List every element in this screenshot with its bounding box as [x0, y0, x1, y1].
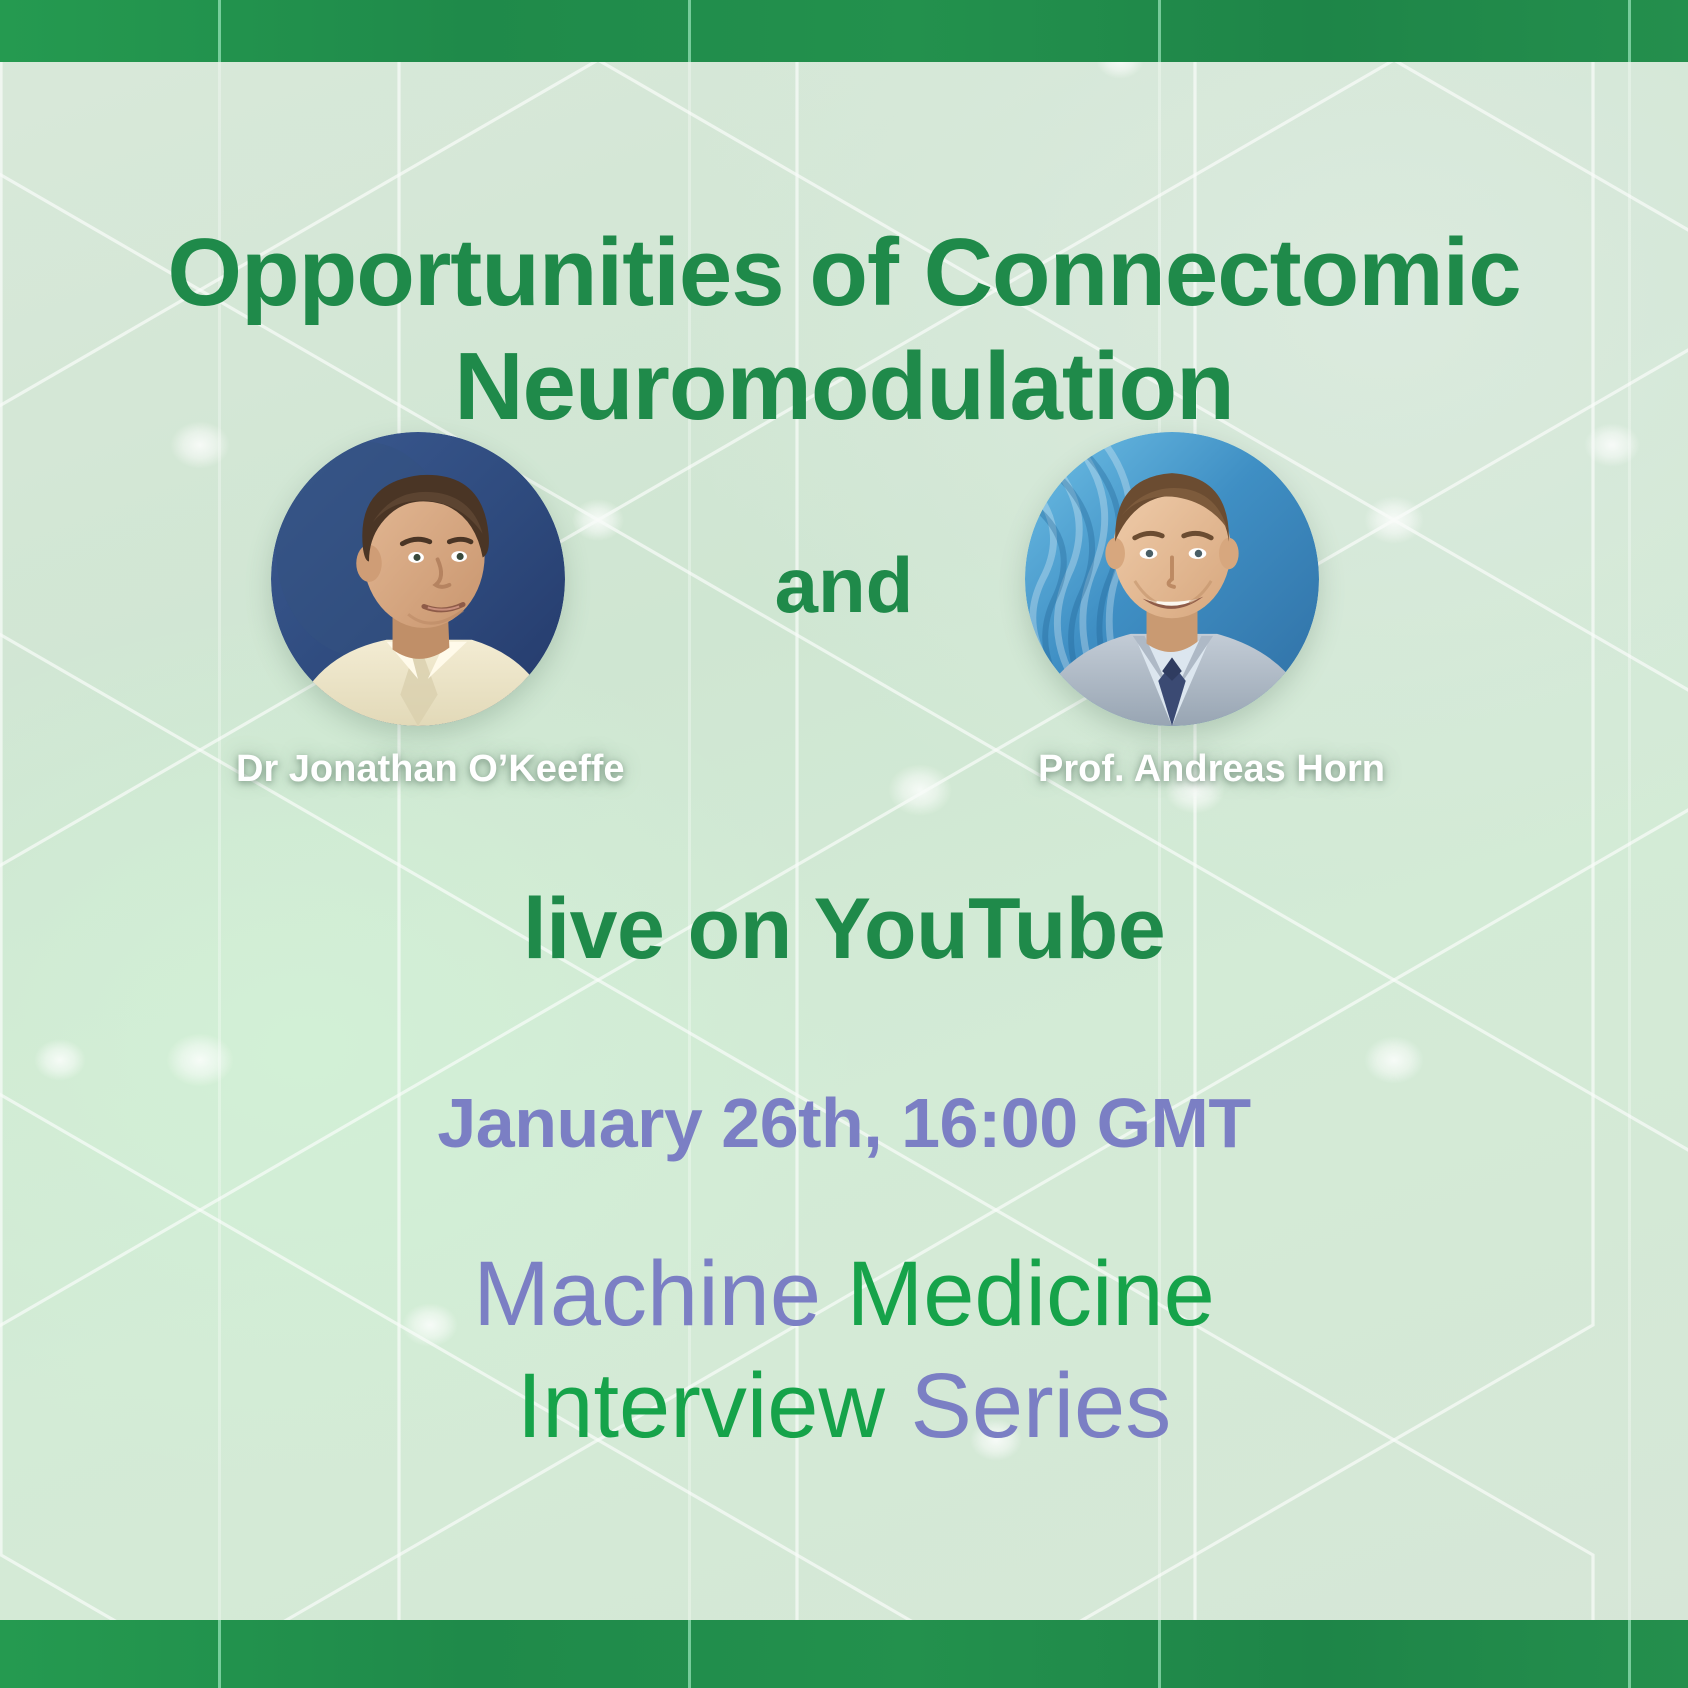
series-branding: Machine Medicine Interview Series: [0, 1238, 1688, 1462]
series-word-medicine: Medicine: [847, 1243, 1215, 1345]
speaker-name-right: Prof. Andreas Horn: [1038, 748, 1322, 791]
speaker-right: Prof. Andreas Horn: [1022, 432, 1322, 791]
portrait-left-illustration: [271, 432, 565, 726]
event-announcement-poster: Opportunities of Connectomic Neuromodula…: [0, 0, 1688, 1688]
speakers-row: Dr Jonathan O’Keeffe: [0, 432, 1688, 812]
title-line-2: Neuromodulation: [40, 330, 1648, 443]
title-line-1: Opportunities of Connectomic: [167, 219, 1520, 326]
speaker-name-left: Dr Jonathan O’Keeffe: [236, 748, 568, 791]
live-on-youtube-line: live on YouTube: [0, 880, 1688, 979]
event-datetime: January 26th, 16:00 GMT: [0, 1083, 1688, 1163]
series-word-series: Series: [910, 1355, 1171, 1457]
speaker-portrait-right: [1025, 432, 1319, 726]
speaker-left: Dr Jonathan O’Keeffe: [268, 432, 568, 791]
series-line-2: Interview Series: [0, 1350, 1688, 1462]
series-line-1: Machine Medicine: [0, 1238, 1688, 1350]
series-word-interview: Interview: [517, 1355, 885, 1457]
page-title: Opportunities of Connectomic Neuromodula…: [0, 216, 1688, 443]
portrait-right-illustration: [1025, 432, 1319, 726]
speaker-portrait-left: [271, 432, 565, 726]
series-word-machine: Machine: [473, 1243, 821, 1345]
